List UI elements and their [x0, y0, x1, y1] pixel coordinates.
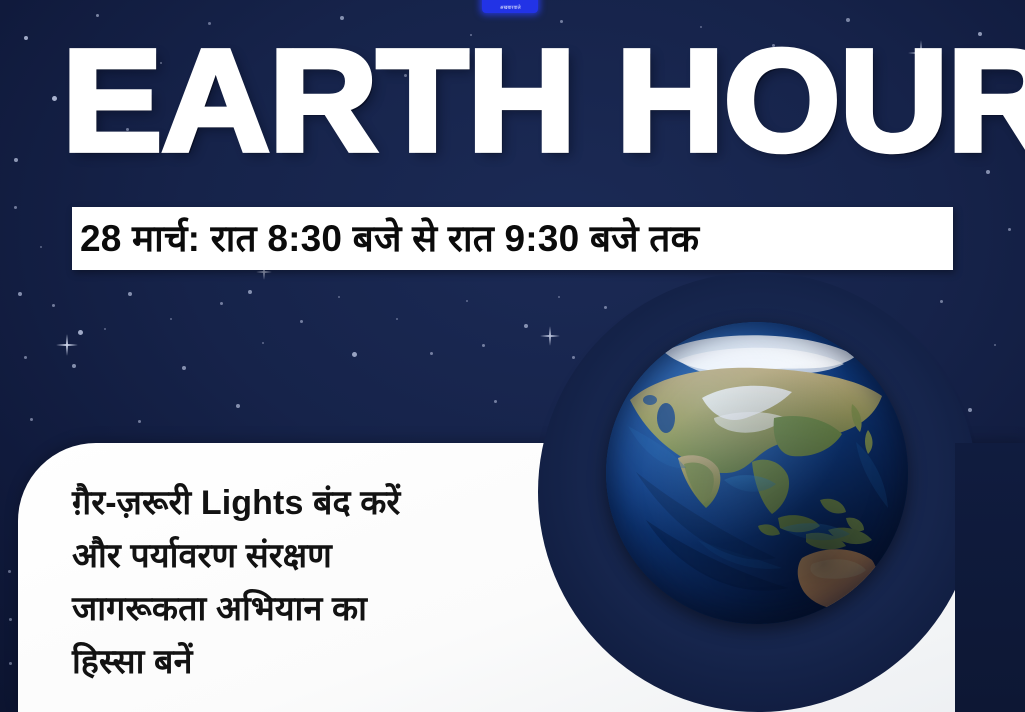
- message-line-2: और पर्यावरण संरक्षण: [72, 530, 552, 583]
- message-line-4: हिस्सा बनें: [72, 636, 552, 689]
- globe-rim: [606, 322, 908, 624]
- event-date-text: 28 मार्च: रात 8:30 बजे से रात 9:30 बजे त…: [72, 215, 699, 263]
- watermark-badge: अखबारवाले: [482, 0, 538, 13]
- sparkle-star-icon: [540, 326, 560, 346]
- page-title: EARTH HOUR: [62, 33, 1016, 170]
- message-line-1: ग़ैर-ज़रूरी Lights बंद करें: [72, 477, 552, 530]
- message-card-text: ग़ैर-ज़रूरी Lights बंद करें और पर्यावरण …: [72, 477, 552, 689]
- card-right-edge-mask: [955, 443, 1025, 712]
- earth-globe-icon: [606, 322, 908, 624]
- sparkle-star-icon: [56, 334, 78, 356]
- message-line-3: जागरूकता अभियान का: [72, 583, 552, 636]
- earth-hour-poster: अखबारवाले EARTH HOUR 28 मार्च: रात 8:30 …: [0, 0, 1025, 712]
- watermark-badge-label: अखबारवाले: [500, 5, 521, 13]
- event-date-bar: 28 मार्च: रात 8:30 बजे से रात 9:30 बजे त…: [72, 207, 953, 270]
